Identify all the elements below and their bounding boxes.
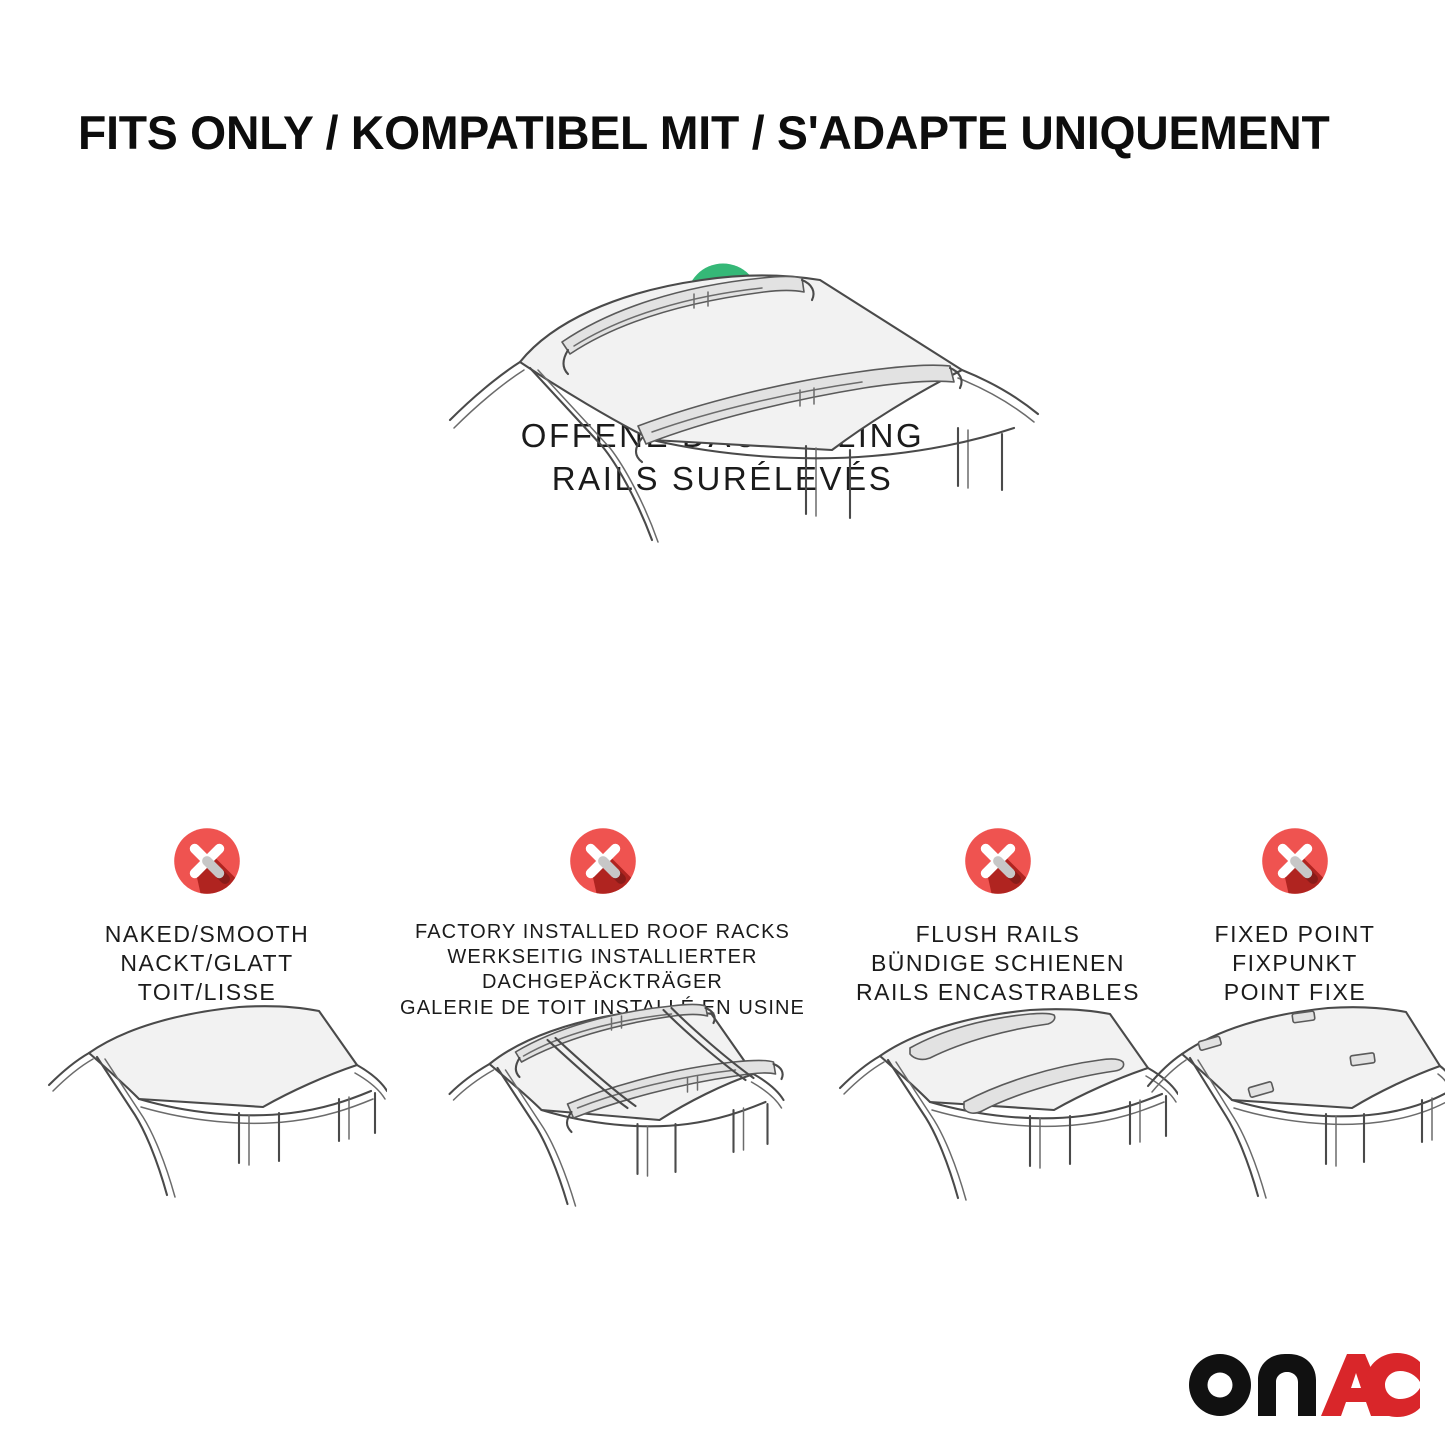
incompatible-labels-flush-rails: FLUSH RAILS BÜNDIGE SCHIENEN RAILS ENCAS…: [838, 920, 1158, 1007]
label-de: BÜNDIGE SCHIENEN: [838, 949, 1158, 978]
incompatible-item-flush-rails: FLUSH RAILS BÜNDIGE SCHIENEN RAILS ENCAS…: [838, 820, 1158, 1007]
incompatible-labels-fixed-point: FIXED POINT FIXPUNKT POINT FIXE: [1150, 920, 1440, 1007]
label-de: FIXPUNKT: [1150, 949, 1440, 978]
label-de-1: WERKSEITIG INSTALLIERTER: [380, 945, 825, 970]
incompatible-section: NAKED/SMOOTH NACKT/GLATT TOIT/LISSE: [0, 820, 1445, 1440]
x-circle-icon: [166, 820, 248, 902]
car-roof-raised-rails-illustration: [402, 250, 1062, 550]
omac-logo: [1188, 1352, 1420, 1418]
label-en: FLUSH RAILS: [838, 920, 1158, 949]
logo-letter-m: [1258, 1354, 1316, 1416]
infographic-page: FITS ONLY / KOMPATIBEL MIT / S'ADAPTE UN…: [0, 0, 1445, 1445]
incompatible-item-naked-smooth: NAKED/SMOOTH NACKT/GLATT TOIT/LISSE: [42, 820, 372, 1007]
page-title: FITS ONLY / KOMPATIBEL MIT / S'ADAPTE UN…: [78, 108, 1359, 157]
x-circle-icon: [562, 820, 644, 902]
car-roof-factory-roof-racks-illustration: [415, 982, 790, 1232]
incompatible-labels-naked-smooth: NAKED/SMOOTH NACKT/GLATT TOIT/LISSE: [42, 920, 372, 1007]
incompatible-item-factory-roof-racks: FACTORY INSTALLED ROOF RACKS WERKSEITIG …: [380, 820, 825, 1021]
label-en: NAKED/SMOOTH: [42, 920, 372, 949]
incompatible-item-fixed-point: FIXED POINT FIXPUNKT POINT FIXE: [1150, 820, 1440, 1007]
car-roof-flush-rails-illustration: [818, 998, 1178, 1233]
x-circle-icon: [1254, 820, 1336, 902]
label-en: FIXED POINT: [1150, 920, 1440, 949]
label-de: NACKT/GLATT: [42, 949, 372, 978]
label-en: FACTORY INSTALLED ROOF RACKS: [380, 920, 825, 945]
car-roof-fixed-point-illustration: [1140, 998, 1445, 1233]
car-roof-naked-smooth-illustration: [27, 995, 387, 1230]
logo-letter-o: [1189, 1354, 1251, 1416]
x-circle-icon: [957, 820, 1039, 902]
